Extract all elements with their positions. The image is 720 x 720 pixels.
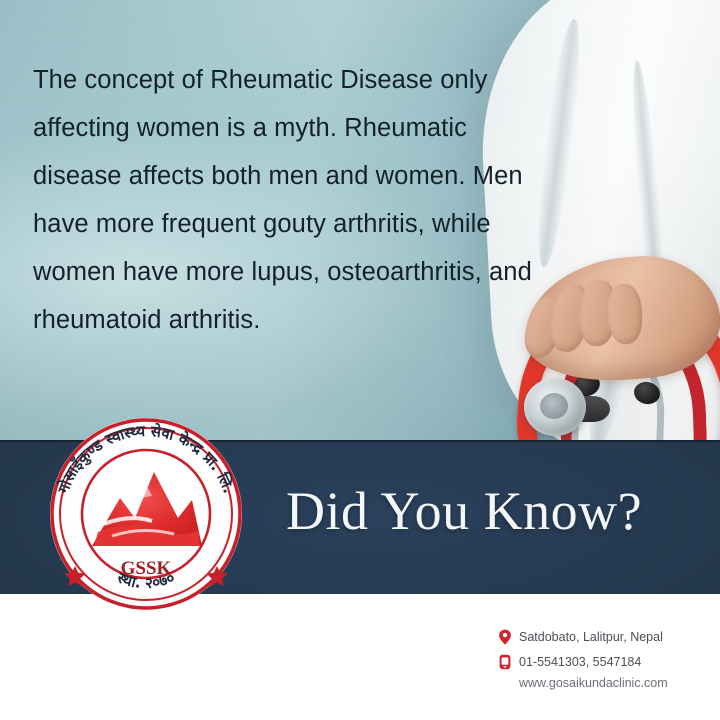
location-pin-icon xyxy=(498,629,512,645)
headline-text: Did You Know? xyxy=(286,481,642,541)
clinic-logo: गोसाइँकुण्ड स्वास्थ्य सेवा केन्द्र प्रा.… xyxy=(42,414,250,612)
poster-root: The concept of Rheumatic Disease only af… xyxy=(0,0,720,720)
website-text: www.gosaikundaclinic.com xyxy=(498,676,704,690)
logo-abbreviation: GSSK xyxy=(121,558,172,579)
stethoscope-diaphragm xyxy=(540,393,568,419)
phone-icon xyxy=(498,654,512,670)
address-text: Satdobato, Lalitpur, Nepal xyxy=(519,630,663,644)
contact-block: Satdobato, Lalitpur, Nepal 01-5541303, 5… xyxy=(498,626,704,690)
body-paragraph: The concept of Rheumatic Disease only af… xyxy=(33,56,533,344)
footer-bar: Satdobato, Lalitpur, Nepal 01-5541303, 5… xyxy=(0,594,720,720)
contact-row-phone: 01-5541303, 5547184 xyxy=(498,651,704,672)
phone-text: 01-5541303, 5547184 xyxy=(519,655,641,669)
contact-row-address: Satdobato, Lalitpur, Nepal xyxy=(498,626,704,647)
stethoscope-chestpiece xyxy=(524,378,586,436)
